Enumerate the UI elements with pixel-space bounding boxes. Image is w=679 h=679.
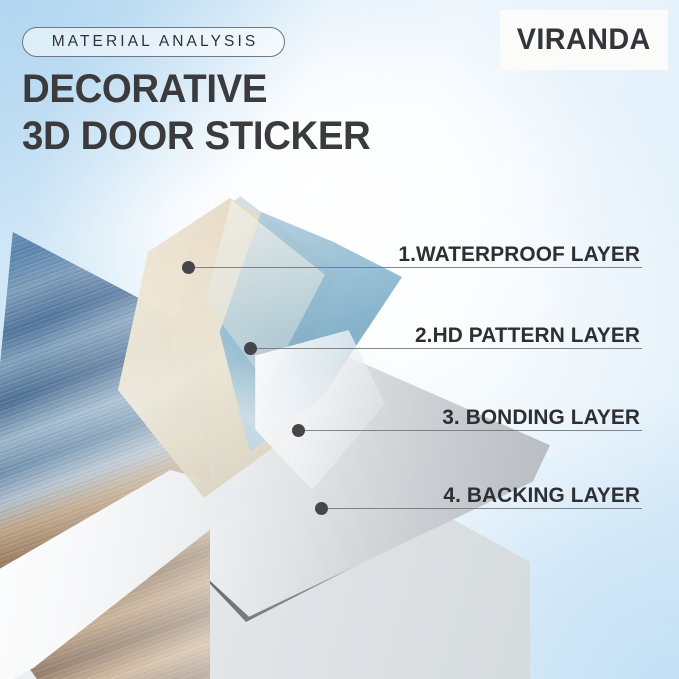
material-analysis-badge: MATERIAL ANALYSIS: [22, 27, 285, 57]
brand-name: VIRANDA: [517, 23, 651, 57]
leader-line-3: [300, 430, 642, 431]
poster-canvas: MATERIAL ANALYSIS DECORATIVE 3D DOOR STI…: [0, 0, 679, 679]
leader-line-2: [252, 348, 642, 349]
leader-line-1: [190, 267, 642, 268]
title-line-2: 3D DOOR STICKER: [22, 113, 464, 160]
page-title: DECORATIVE 3D DOOR STICKER: [22, 66, 464, 160]
callout-label-2: 2.HD PATTERN LAYER: [351, 323, 640, 348]
callout-label-4: 4. BACKING LAYER: [351, 483, 640, 508]
leader-dot-1: [182, 261, 195, 274]
badge-label: MATERIAL ANALYSIS: [49, 33, 259, 51]
callout-label-1: 1.WATERPROOF LAYER: [351, 242, 640, 267]
leader-line-4: [323, 508, 642, 509]
brand-logo: VIRANDA: [500, 10, 668, 70]
leader-dot-2: [244, 342, 257, 355]
title-line-1: DECORATIVE: [22, 67, 267, 111]
leader-dot-4: [315, 502, 328, 515]
leader-dot-3: [292, 424, 305, 437]
callout-label-3: 3. BONDING LAYER: [351, 405, 640, 430]
